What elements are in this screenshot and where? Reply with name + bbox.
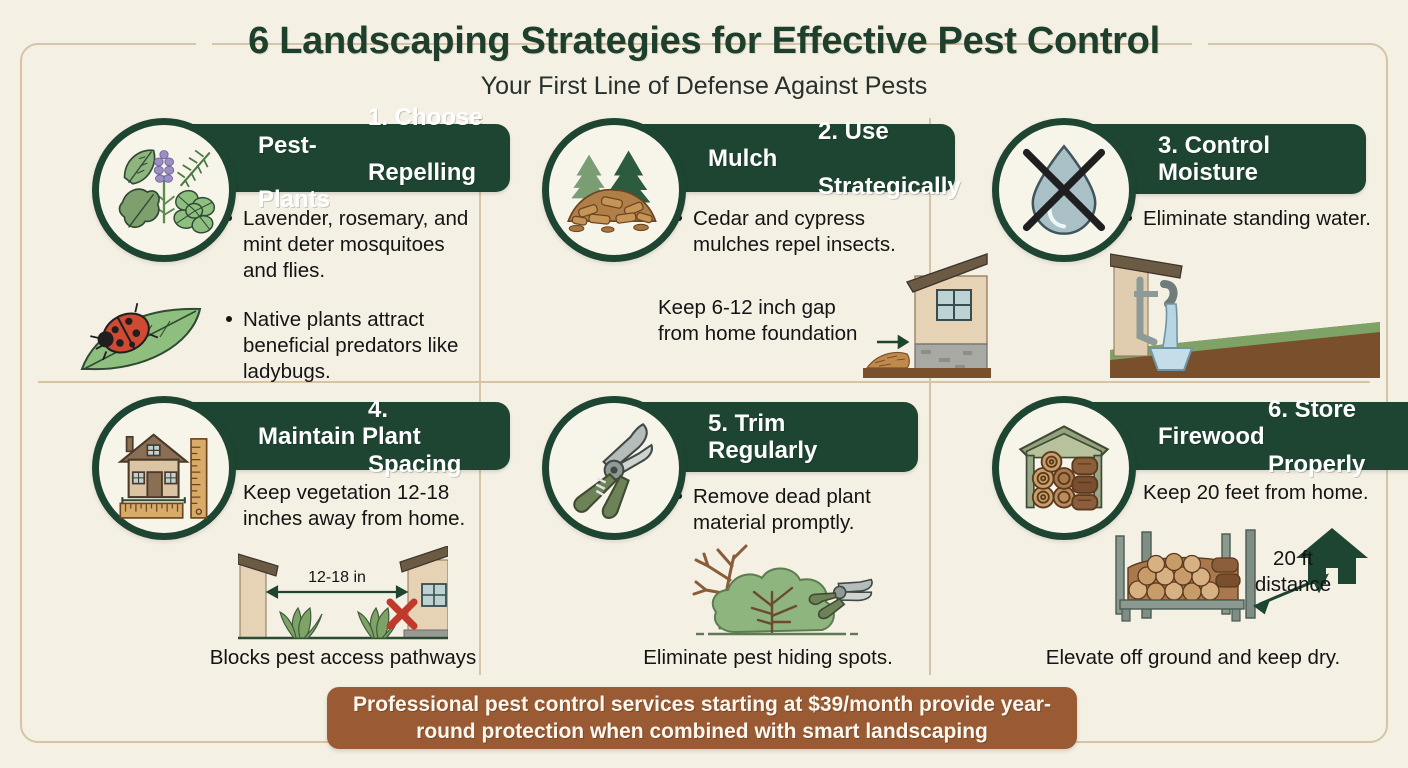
card-3-control-moisture: 3. Control Moisture Eliminate standing w…: [938, 110, 1378, 380]
pruning-shears-icon: [542, 396, 686, 540]
plant-spacing-diagram: 12-18 in: [238, 546, 448, 646]
grid-divider-vertical-2: [929, 118, 931, 675]
card-4-maintain-plant-spacing: 4. Maintain PlantSpacing Keep vegetation…: [38, 388, 480, 668]
card-3-bullet-list: Eliminate standing water.: [1124, 206, 1376, 248]
card-6-distance-label-line2: distance: [1255, 573, 1331, 596]
page-title: 6 Landscaping Strategies for Effective P…: [0, 20, 1408, 63]
firewood-shed-icon: [992, 396, 1136, 540]
svg-text:12-18 in: 12-18 in: [308, 569, 366, 586]
card-1-bullet-2: Native plants attract beneficial predato…: [224, 307, 474, 386]
gutter-downspout-grading-illustration: [1110, 250, 1380, 378]
card-5-bullet-1: Remove dead plant material promptly.: [674, 484, 904, 536]
page-subtitle: Your First Line of Defense Against Pests: [0, 72, 1408, 101]
ladybug-on-leaf-illustration: [74, 285, 224, 375]
shrub-trimming-illustration: [678, 536, 908, 646]
house-foundation-mulch-gap-illustration: [863, 250, 991, 378]
footer-text: Professional pest control services start…: [327, 691, 1077, 746]
card-4-caption: Blocks pest access pathways: [178, 646, 508, 670]
infographic-root: 6 Landscaping Strategies for Effective P…: [0, 0, 1408, 768]
card-1-choose-pest-repelling-plants: 1. Choose Pest-Repelling Plants Lavender…: [38, 110, 480, 380]
card-1-bullet-list: Lavender, rosemary, and mint deter mosqu…: [224, 206, 474, 401]
card-6-distance-label: 20 ft distance: [1238, 546, 1348, 598]
card-5-trim-regularly: 5. Trim Regularly Remove dead plant mate…: [488, 388, 920, 668]
herb-plants-icon: [92, 118, 236, 262]
card-2-use-mulch-strategically: 2. Use MulchStrategically Cedar and cypr…: [488, 110, 920, 380]
footer-banner: Professional pest control services start…: [327, 687, 1077, 749]
card-2-side-note: Keep 6-12 inch gap from home foundation: [658, 295, 863, 347]
card-4-bullet-list: Keep vegetation 12-18 inches away from h…: [224, 480, 478, 548]
card-6-store-firewood-properly: 6. Store FirewoodProperly Keep 20 feet f…: [938, 388, 1378, 668]
card-1-bullet-1: Lavender, rosemary, and mint deter mosqu…: [224, 206, 474, 285]
card-3-bullet-1: Eliminate standing water.: [1124, 206, 1376, 232]
card-5-caption: Eliminate pest hiding spots.: [618, 646, 918, 670]
mulch-pile-with-trees-icon: [542, 118, 686, 262]
house-with-ruler-icon: [92, 396, 236, 540]
card-6-bullet-1: Keep 20 feet from home.: [1124, 480, 1374, 506]
no-water-drop-icon: [992, 118, 1136, 262]
card-4-bullet-1: Keep vegetation 12-18 inches away from h…: [224, 480, 478, 532]
card-6-caption: Elevate off ground and keep dry.: [1013, 646, 1373, 670]
card-6-distance-label-line1: 20 ft: [1273, 547, 1313, 570]
